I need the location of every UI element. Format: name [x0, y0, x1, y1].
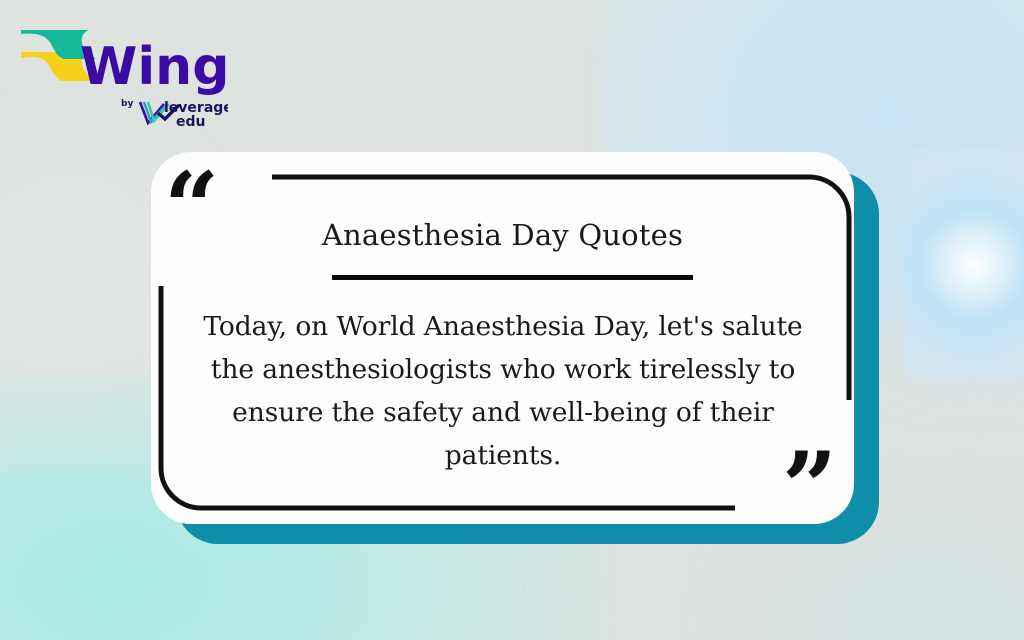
- logo-by-label: by: [121, 99, 133, 109]
- quote-title: Anaesthesia Day Quotes: [151, 218, 854, 252]
- logo-svg: Wings by leverage edu: [18, 22, 228, 132]
- quote-body-text: Today, on World Anaesthesia Day, let's s…: [196, 305, 810, 477]
- title-underline-divider: [332, 275, 693, 280]
- wings-leverage-edu-logo: Wings by leverage edu: [18, 22, 228, 132]
- background-blob-right-halo: [860, 120, 1024, 420]
- background-blob-right-glow: [905, 150, 1024, 380]
- quote-graphic-canvas: Wings by leverage edu “ ” Anaesthesia Da…: [0, 0, 1024, 640]
- logo-subbrand-line2: edu: [176, 114, 205, 130]
- logo-wordmark: Wings: [80, 37, 228, 97]
